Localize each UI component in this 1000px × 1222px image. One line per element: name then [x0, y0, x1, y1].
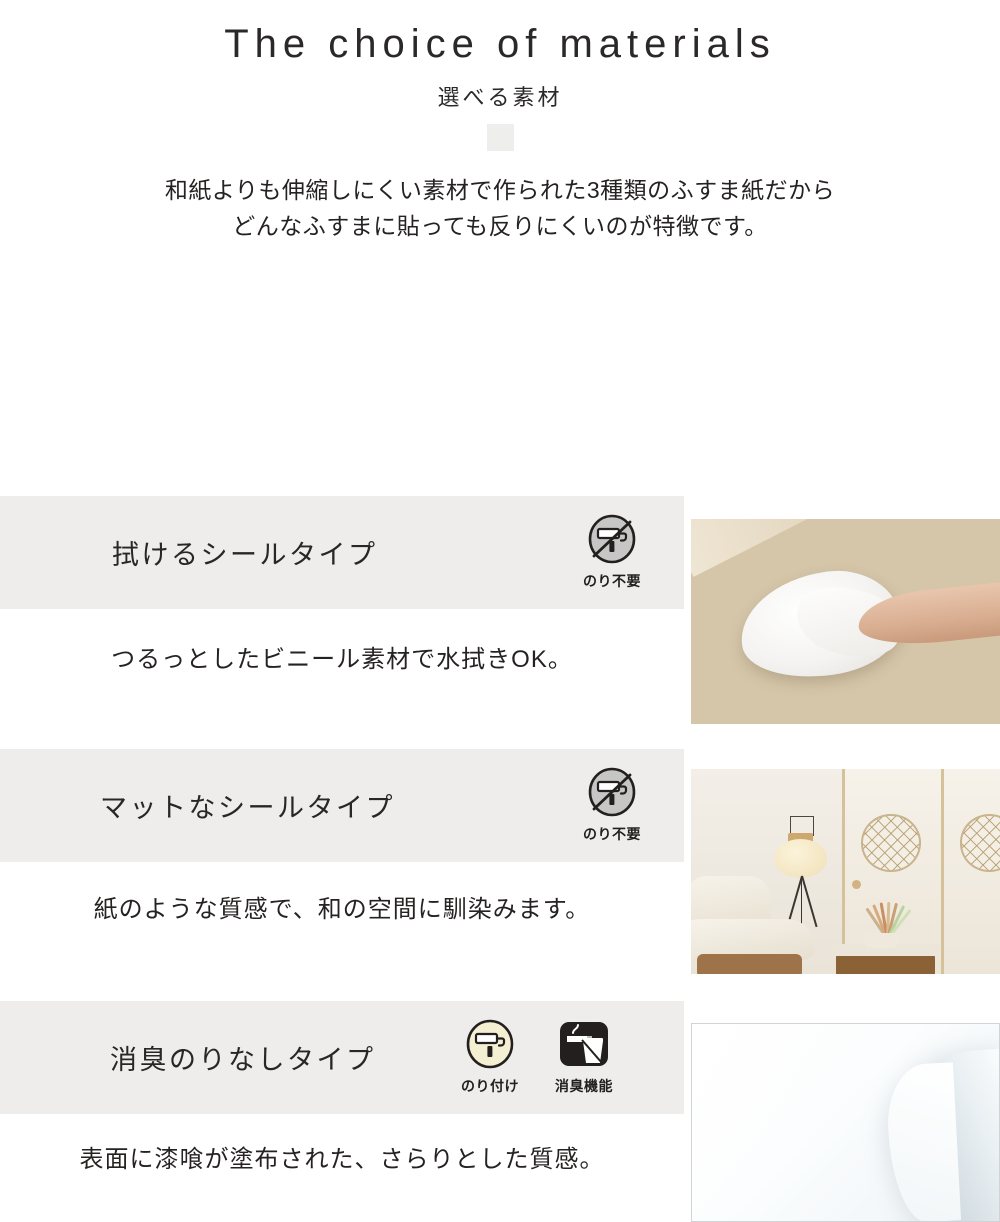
badge-no-glue: のり不要 — [574, 514, 650, 591]
page-title: The choice of materials — [0, 22, 1000, 66]
badge-deodorizing: 消臭機能 — [546, 1019, 622, 1096]
section-1-caption: つるっとしたビニール素材で水拭きOK。 — [0, 639, 684, 674]
section-1-badges: のり不要 — [574, 514, 650, 591]
badge-label: 消臭機能 — [546, 1076, 622, 1096]
section-3-badges: のり付け 消臭機能 — [452, 1019, 622, 1096]
section-3-photo — [691, 1023, 1000, 1222]
decorative-square — [487, 124, 514, 151]
no-glue-roller-icon — [585, 767, 639, 821]
badge-label: のり不要 — [574, 571, 650, 591]
section-2-band: マットなシールタイプ のり不要 — [0, 749, 684, 862]
section-2-title: マットなシールタイプ — [100, 786, 395, 825]
section-2-caption: 紙のような質感で、和の空間に馴染みます。 — [0, 889, 684, 924]
glue-roller-icon — [463, 1019, 517, 1073]
no-glue-roller-icon — [585, 514, 639, 568]
badge-no-glue: のり不要 — [574, 767, 650, 844]
page-lead-text: 和紙よりも伸縮しにくい素材で作られた3種類のふすま紙だから どんなふすまに貼って… — [0, 173, 1000, 244]
section-3-title: 消臭のりなしタイプ — [110, 1038, 376, 1077]
badge-label: のり不要 — [574, 824, 650, 844]
section-2-badges: のり不要 — [574, 767, 650, 844]
lead-line-1: 和紙よりも伸縮しにくい素材で作られた3種類のふすま紙だから — [0, 173, 1000, 209]
page-subtitle: 選べる素材 — [0, 80, 1000, 112]
page-header: The choice of materials 選べる素材 和紙よりも伸縮しにく… — [0, 0, 1000, 244]
section-2-photo — [691, 769, 1000, 974]
section-1-title: 拭けるシールタイプ — [112, 533, 378, 572]
section-1-band: 拭けるシールタイプ のり不要 — [0, 496, 684, 609]
badge-label: のり付け — [452, 1076, 528, 1096]
lead-line-2: どんなふすまに貼っても反りにくいのが特徴です。 — [0, 209, 1000, 245]
section-1-photo — [691, 519, 1000, 724]
section-3-band: 消臭のりなしタイプ のり付け — [0, 1001, 684, 1114]
deodorize-icon — [557, 1019, 611, 1073]
section-3-caption: 表面に漆喰が塗布された、さらりとした質感。 — [0, 1139, 684, 1174]
badge-glue-required: のり付け — [452, 1019, 528, 1096]
